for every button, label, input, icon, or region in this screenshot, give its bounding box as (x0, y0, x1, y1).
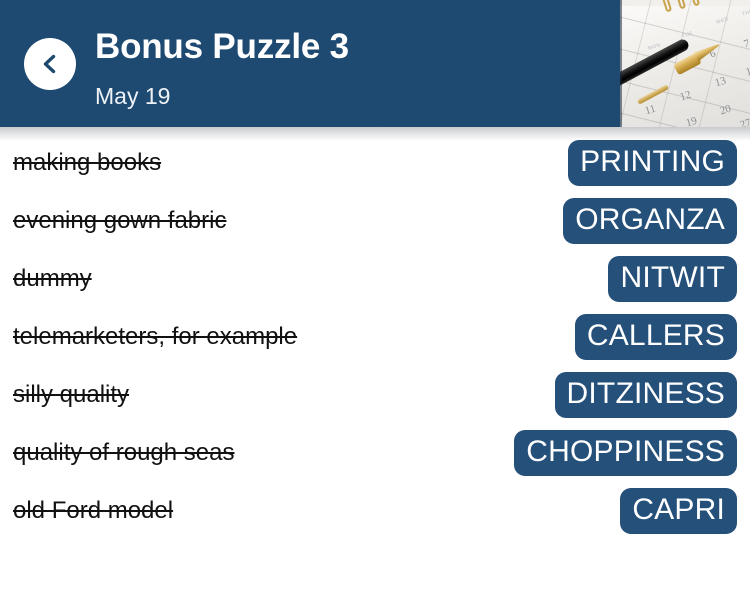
photo-left-edge (620, 0, 622, 127)
puzzle-clue-list: making books PRINTING evening gown fabri… (0, 141, 750, 613)
header-shadow (0, 127, 750, 141)
clue-row: making books PRINTING (0, 147, 750, 205)
answer-pill[interactable]: CAPRI (620, 488, 737, 534)
answer-pill[interactable]: NITWIT (608, 256, 737, 302)
clue-text: evening gown fabric (13, 205, 226, 237)
calendar-day-number: 27 (738, 117, 750, 127)
clue-row: old Ford model CAPRI (0, 495, 750, 553)
clue-text: old Ford model (13, 495, 173, 527)
clue-text: silly quality (13, 379, 129, 411)
answer-pill[interactable]: DITZINESS (555, 372, 737, 418)
answer-pill[interactable]: CHOPPINESS (514, 430, 737, 476)
page-title: Bonus Puzzle 3 (95, 26, 349, 68)
answer-pill[interactable]: PRINTING (568, 140, 737, 186)
chevron-left-icon (37, 51, 63, 77)
clue-text: making books (13, 147, 161, 179)
page-subtitle-date: May 19 (95, 82, 170, 110)
clue-row: dummy NITWIT (0, 263, 750, 321)
clue-text: dummy (13, 263, 92, 295)
clue-row: quality of rough seas CHOPPINESS (0, 437, 750, 495)
clue-row: telemarketers, for example CALLERS (0, 321, 750, 379)
puzzle-app-screen: Bonus Puzzle 3 May 19 MON TUE WED THU 5 … (0, 0, 750, 613)
clue-row: silly quality DITZINESS (0, 379, 750, 437)
answer-pill[interactable]: ORGANZA (563, 198, 737, 244)
clue-text: telemarketers, for example (13, 321, 297, 353)
back-button[interactable] (24, 38, 76, 90)
app-header: Bonus Puzzle 3 May 19 MON TUE WED THU 5 … (0, 0, 750, 127)
clue-row: evening gown fabric ORGANZA (0, 205, 750, 263)
calendar-photo: MON TUE WED THU 5 6 7 11 12 13 1 19 20 2… (620, 0, 750, 127)
answer-pill[interactable]: CALLERS (575, 314, 737, 360)
clue-text: quality of rough seas (13, 437, 234, 469)
